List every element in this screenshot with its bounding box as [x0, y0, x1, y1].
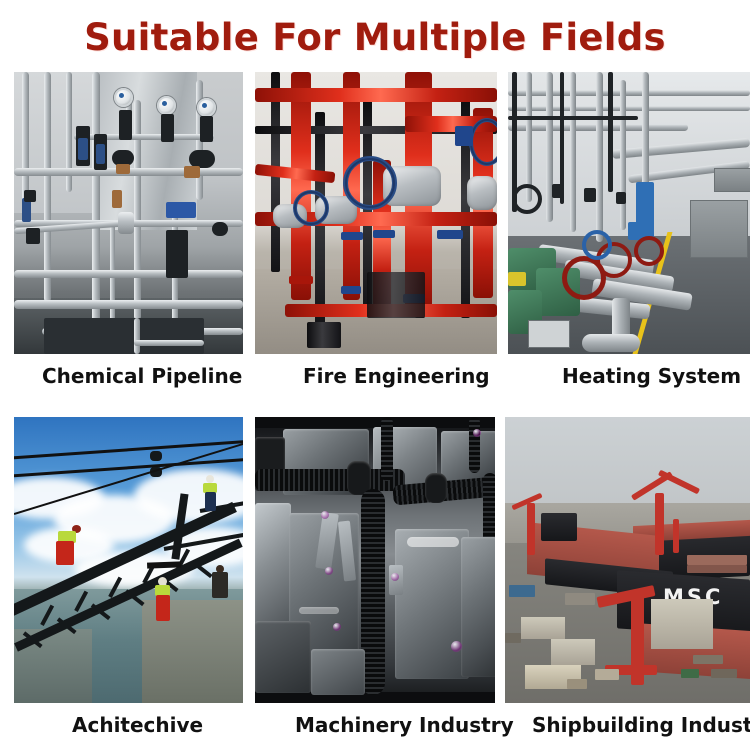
- label-architecture: Achitechive: [72, 713, 203, 737]
- grid-row-top: [0, 72, 750, 354]
- image-fire-engineering: [255, 72, 497, 354]
- label-chemical-pipeline: Chemical Pipeline: [42, 364, 242, 388]
- image-machinery-industry: [255, 417, 495, 703]
- grid-row-bottom: MSC: [0, 417, 750, 703]
- image-shipbuilding-industry: MSC: [505, 417, 750, 703]
- image-architecture: [14, 417, 243, 703]
- label-machinery-industry: Machinery Industry: [295, 713, 514, 737]
- promo-banner: Suitable For Multiple Fields: [0, 0, 750, 750]
- label-shipbuilding-industry: Shipbuilding Industry: [532, 713, 750, 737]
- label-fire-engineering: Fire Engineering: [303, 364, 490, 388]
- image-chemical-pipeline: [14, 72, 243, 354]
- tile-heating-system[interactable]: [508, 72, 750, 354]
- page-title: Suitable For Multiple Fields: [0, 16, 750, 59]
- image-heating-system: [508, 72, 750, 354]
- tile-chemical-pipeline[interactable]: [14, 72, 243, 354]
- label-heating-system: Heating System: [562, 364, 741, 388]
- tile-fire-engineering[interactable]: [255, 72, 497, 354]
- tile-shipbuilding-industry[interactable]: MSC: [505, 417, 750, 703]
- tile-machinery-industry[interactable]: [255, 417, 495, 703]
- tile-architecture[interactable]: [14, 417, 243, 703]
